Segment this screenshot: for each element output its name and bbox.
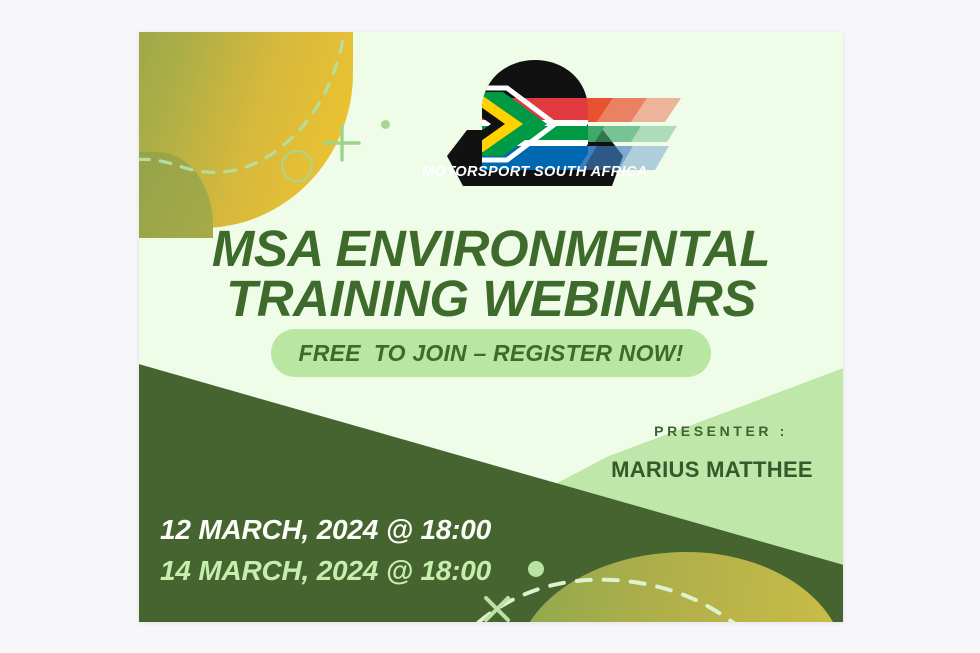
logo-wordmark: MOTORSPORT SOUTH AFRICA [422,164,648,180]
decorative-cross-bottom-right-icon [481,593,513,622]
presenter-label: PRESENTER : [599,423,843,439]
motorsport-south-africa-logo: MOTORSPORT SOUTH AFRICA [407,52,699,200]
decorative-ring-top-left [281,150,313,182]
headline: MSA ENVIRONMENTAL TRAINING WEBINARS [139,224,843,325]
register-cta-button[interactable]: FREE TO JOIN – REGISTER NOW! [271,329,711,377]
decorative-plus-top-left-icon [323,124,361,162]
register-cta-label: FREE TO JOIN – REGISTER NOW! [299,340,684,367]
presenter-name: MARIUS MATTHEE [581,457,843,483]
screenshot-canvas: MOTORSPORT SOUTH AFRICA MSA ENVIRONMENTA… [0,0,980,653]
webinar-poster: MOTORSPORT SOUTH AFRICA MSA ENVIRONMENTA… [139,32,843,622]
decorative-dot-bottom-right [528,561,544,577]
decorative-dot-top-left [381,120,390,129]
